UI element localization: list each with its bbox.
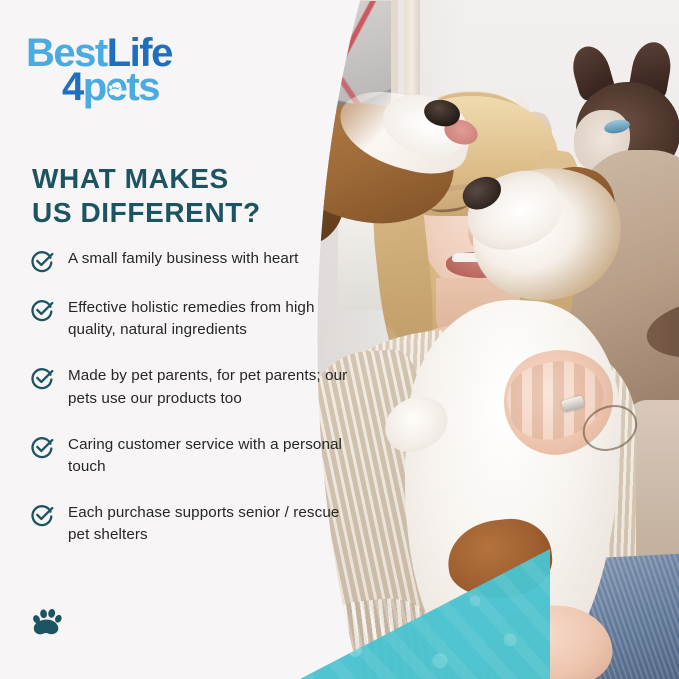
list-item-4: Each purchase supports senior / rescue p… xyxy=(30,502,360,546)
promo-banner: BestLife 4pets WHAT MAKES US DIFFERENT? xyxy=(0,0,679,679)
paw-print-icon xyxy=(30,606,64,640)
check-circle-icon xyxy=(30,298,54,322)
list-item-2: Made by pet parents, for pet parents; ou… xyxy=(30,365,360,409)
page-title-line-2: US DIFFERENT? xyxy=(32,197,261,228)
list-item-label: Effective holistic remedies from high qu… xyxy=(68,297,353,341)
list-item-label: A small family business with heart xyxy=(68,248,298,270)
benefits-list: A small family business with heart Effec… xyxy=(30,248,360,571)
content-column: BestLife 4pets WHAT MAKES US DIFFERENT? xyxy=(0,0,300,679)
check-circle-icon xyxy=(30,366,54,390)
list-item-label: Each purchase supports senior / rescue p… xyxy=(68,502,353,546)
list-item-label: Caring customer service with a personal … xyxy=(68,434,353,478)
brand-logo-line-2: 4pets xyxy=(62,70,172,104)
check-circle-icon xyxy=(30,503,54,527)
list-item-1: Effective holistic remedies from high qu… xyxy=(30,297,360,341)
page-title: WHAT MAKES US DIFFERENT? xyxy=(32,162,312,229)
list-item-label: Made by pet parents, for pet parents; ou… xyxy=(68,365,353,409)
brand-logo[interactable]: BestLife 4pets xyxy=(26,36,172,105)
list-item-3: Caring customer service with a personal … xyxy=(30,434,360,478)
check-circle-icon xyxy=(30,435,54,459)
page-title-line-1: WHAT MAKES xyxy=(32,163,229,194)
paw-print-icon xyxy=(106,82,123,97)
check-circle-icon xyxy=(30,249,54,273)
brand-logo-four: 4 xyxy=(62,65,83,109)
list-item-0: A small family business with heart xyxy=(30,248,360,273)
